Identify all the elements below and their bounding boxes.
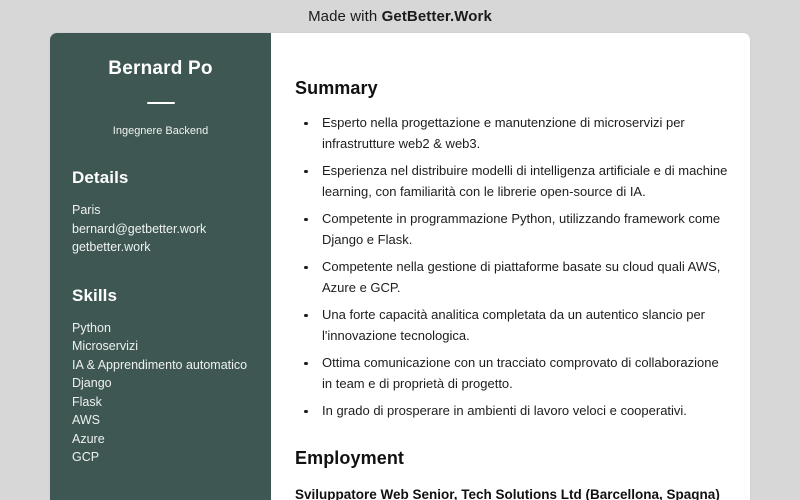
skill-item: GCP bbox=[72, 448, 253, 467]
skill-item: Flask bbox=[72, 393, 253, 412]
skill-item: Microservizi bbox=[72, 337, 253, 356]
candidate-job-title: Ingegnere Backend bbox=[68, 124, 253, 139]
name-divider bbox=[147, 102, 175, 104]
resume-content: Summary Esperto nella progettazione e ma… bbox=[271, 33, 750, 500]
resume-sidebar: Bernard Po Ingegnere Backend Details Par… bbox=[50, 33, 271, 500]
summary-bullet: Una forte capacità analitica completata … bbox=[295, 305, 728, 346]
skills-section: Skills Python Microservizi IA & Apprendi… bbox=[68, 286, 253, 467]
summary-section: Summary Esperto nella progettazione e ma… bbox=[295, 78, 728, 422]
skills-list: Python Microservizi IA & Apprendimento a… bbox=[68, 319, 253, 467]
candidate-name: Bernard Po bbox=[68, 58, 253, 81]
summary-heading: Summary bbox=[295, 78, 728, 99]
detail-item-website[interactable]: getbetter.work bbox=[72, 238, 253, 257]
resume-document: Bernard Po Ingegnere Backend Details Par… bbox=[50, 33, 750, 500]
summary-bullet: Esperienza nel distribuire modelli di in… bbox=[295, 161, 728, 202]
skills-heading: Skills bbox=[68, 286, 253, 306]
brand-name[interactable]: GetBetter.Work bbox=[382, 8, 492, 25]
detail-item-email[interactable]: bernard@getbetter.work bbox=[72, 220, 253, 239]
employment-entry: Sviluppatore Web Senior, Tech Solutions … bbox=[295, 483, 728, 500]
summary-bullet: In grado di prosperare in ambienti di la… bbox=[295, 401, 728, 422]
summary-bullet: Competente nella gestione di piattaforme… bbox=[295, 257, 728, 298]
skill-item: IA & Apprendimento automatico bbox=[72, 356, 253, 375]
skill-item: Azure bbox=[72, 430, 253, 449]
made-with-banner: Made with GetBetter.Work bbox=[0, 0, 800, 33]
identity-block: Bernard Po Ingegnere Backend bbox=[68, 33, 253, 139]
details-list: Paris bernard@getbetter.work getbetter.w… bbox=[68, 201, 253, 257]
employment-heading: Employment bbox=[295, 448, 728, 469]
document-preview-area: Bernard Po Ingegnere Backend Details Par… bbox=[0, 33, 800, 500]
employment-section: Employment Sviluppatore Web Senior, Tech… bbox=[295, 448, 728, 500]
summary-bullet: Competente in programmazione Python, uti… bbox=[295, 209, 728, 250]
made-with-label: Made with GetBetter.Work bbox=[308, 8, 492, 25]
details-heading: Details bbox=[68, 168, 253, 188]
skill-item: Python bbox=[72, 319, 253, 338]
summary-bullet: Esperto nella progettazione e manutenzio… bbox=[295, 113, 728, 154]
detail-item-location: Paris bbox=[72, 201, 253, 220]
summary-bullet: Ottima comunicazione con un tracciato co… bbox=[295, 353, 728, 394]
made-with-prefix: Made with bbox=[308, 8, 382, 25]
summary-bullet-list: Esperto nella progettazione e manutenzio… bbox=[295, 113, 728, 422]
skill-item: Django bbox=[72, 374, 253, 393]
details-section: Details Paris bernard@getbetter.work get… bbox=[68, 168, 253, 257]
employment-entry-title: Sviluppatore Web Senior, Tech Solutions … bbox=[295, 483, 728, 500]
skill-item: AWS bbox=[72, 411, 253, 430]
